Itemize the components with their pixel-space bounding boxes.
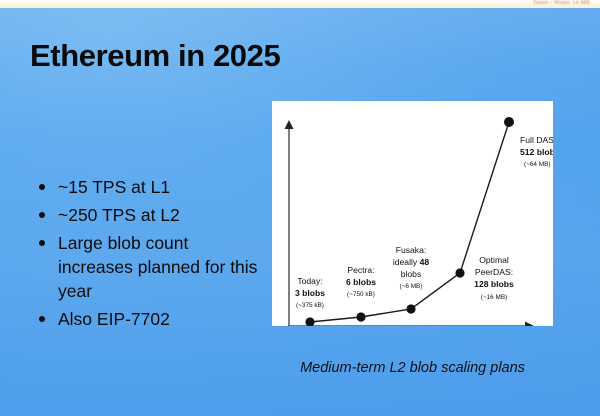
bullet-dot-icon <box>39 184 45 190</box>
label-peerdas-name-line2: PeerDAS: <box>475 267 513 277</box>
bullet-text: ~15 TPS at L1 <box>58 177 170 197</box>
label-pectra-name: Pectra: <box>347 265 374 275</box>
label-fusaka-name: Fusaka: <box>396 245 427 255</box>
label-peerdas-name: Optimal <box>479 255 509 265</box>
label-fulldas-value: 512 blobs <box>520 147 553 157</box>
bullet-dot-icon <box>39 212 45 218</box>
label-today-size: (~375 kB) <box>296 302 324 309</box>
bullet-list: ~15 TPS at L1 ~250 TPS at L2 Large blob … <box>36 175 266 335</box>
label-peerdas-size: (~16 MB) <box>481 294 507 301</box>
background-window-title: Tester - Wonic 14 MB <box>533 0 590 7</box>
label-fulldas-name: Full DAS: <box>520 135 553 145</box>
presentation-slide-view: Tester - Wonic 14 MB Ethereum in 2025 ~1… <box>0 0 600 416</box>
list-item: Also EIP-7702 <box>36 307 266 331</box>
label-peerdas-value: 128 blobs <box>474 279 514 289</box>
data-label-today: Today: 3 blobs (~375 kB) <box>295 276 325 309</box>
data-point-full-das <box>504 117 514 127</box>
bullet-text: ~250 TPS at L2 <box>58 205 180 225</box>
bullet-dot-icon <box>39 316 45 322</box>
chart-caption: Medium-term L2 blob scaling plans <box>272 360 553 376</box>
page-title: Ethereum in 2025 <box>30 38 280 74</box>
data-point-today <box>305 317 314 326</box>
data-label-pectra: Pectra: 6 blobs (~750 kB) <box>346 265 376 298</box>
list-item: ~15 TPS at L1 <box>36 175 266 199</box>
label-fulldas-size: (~64 MB) <box>524 161 550 168</box>
data-point-fusaka <box>406 304 415 313</box>
slide-canvas: Ethereum in 2025 ~15 TPS at L1 ~250 TPS … <box>0 8 600 416</box>
label-pectra-size: (~750 kB) <box>347 291 375 298</box>
label-fusaka-size: (~6 MB) <box>400 283 423 290</box>
chart-svg: Today: 3 blobs (~375 kB) Pectra: 6 blobs… <box>272 101 553 326</box>
bullet-text: Also EIP-7702 <box>58 309 170 329</box>
label-fusaka-value-line2: blobs <box>401 269 422 279</box>
series-line <box>310 122 509 322</box>
label-today-value: 3 blobs <box>295 288 325 298</box>
data-label-fusaka: Fusaka: ideally 48 blobs (~6 MB) <box>393 245 430 290</box>
list-item: ~250 TPS at L2 <box>36 203 266 227</box>
data-point-pectra <box>356 312 365 321</box>
data-point-optimal-peerdas <box>455 268 464 277</box>
list-item: Large blob count increases planned for t… <box>36 231 266 303</box>
label-fusaka-value: ideally 48 <box>393 257 430 267</box>
bullet-text: Large blob count increases planned for t… <box>58 233 257 301</box>
data-label-optimal-peerdas: Optimal PeerDAS: 128 blobs (~16 MB) <box>474 255 514 301</box>
label-pectra-value: 6 blobs <box>346 277 376 287</box>
bullet-dot-icon <box>39 240 45 246</box>
label-today-name: Today: <box>297 276 322 286</box>
data-label-full-das: Full DAS: 512 blobs (~64 MB) <box>520 135 553 168</box>
blob-scaling-chart: Today: 3 blobs (~375 kB) Pectra: 6 blobs… <box>272 101 553 326</box>
